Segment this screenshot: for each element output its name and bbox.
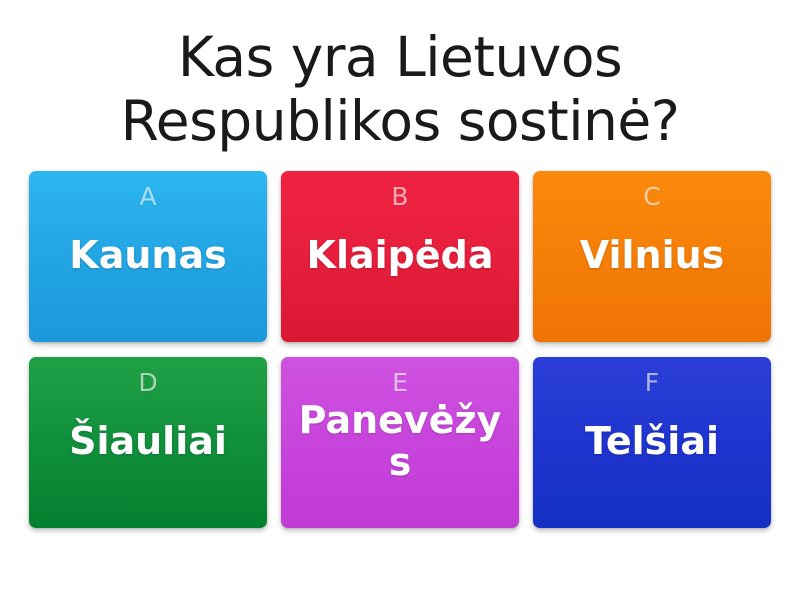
answer-letter-a: A — [139, 184, 156, 209]
answer-letter-d: D — [138, 370, 157, 395]
answer-label-e: Panevėžys — [289, 400, 511, 484]
answer-letter-e: E — [392, 370, 408, 395]
answer-options-grid: A Kaunas B Klaipėda C Vilnius D Šiauliai… — [30, 171, 770, 528]
answer-option-c[interactable]: C Vilnius — [533, 171, 771, 342]
quiz-container: Kas yra Lietuvos Respublikos sostinė? A … — [0, 0, 800, 600]
answer-letter-c: C — [643, 184, 660, 209]
answer-option-a[interactable]: A Kaunas — [29, 171, 267, 342]
answer-label-a: Kaunas — [37, 235, 259, 277]
answer-option-d[interactable]: D Šiauliai — [29, 357, 267, 528]
answer-option-e[interactable]: E Panevėžys — [281, 357, 519, 528]
answer-label-c: Vilnius — [541, 235, 763, 277]
answer-label-b: Klaipėda — [289, 235, 511, 277]
answer-option-b[interactable]: B Klaipėda — [281, 171, 519, 342]
answer-label-d: Šiauliai — [37, 421, 259, 463]
question-title: Kas yra Lietuvos Respublikos sostinė? — [50, 0, 750, 154]
answer-letter-b: B — [391, 184, 408, 209]
answer-option-f[interactable]: F Telšiai — [533, 357, 771, 528]
answer-label-f: Telšiai — [541, 421, 763, 463]
answer-letter-f: F — [645, 370, 659, 395]
